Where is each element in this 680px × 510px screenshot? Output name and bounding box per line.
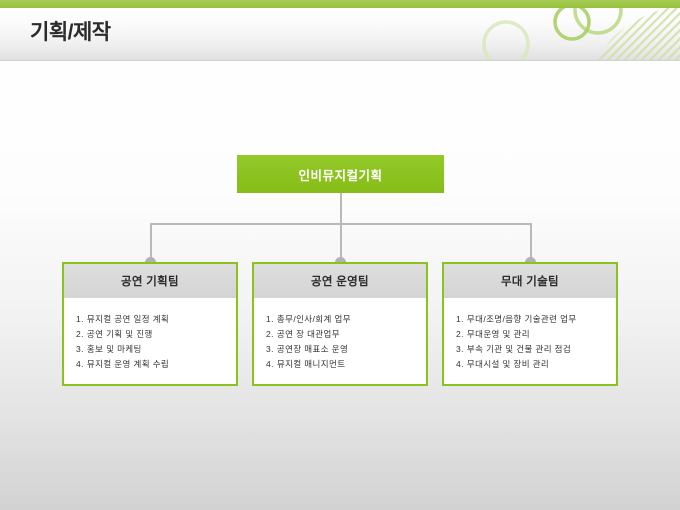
list-item-number: 1. xyxy=(456,314,464,324)
list-item-number: 3. xyxy=(76,344,84,354)
list-item-text: 홍보 및 마케팅 xyxy=(87,344,142,354)
list-item: 4.무대시설 및 장비 관리 xyxy=(456,357,616,372)
org-chart: 인비뮤지컬기획 공연 기획팀 1.뮤지컬 공연 일정 계획 2.공연 기획 및 … xyxy=(0,0,680,510)
list-item: 4.뮤지컬 운영 계획 수립 xyxy=(76,357,236,372)
list-item-text: 무대/조명/음향 기술관련 업무 xyxy=(467,314,577,324)
org-root-node[interactable]: 인비뮤지컬기획 xyxy=(237,155,444,193)
list-item-text: 뮤지컬 공연 일정 계획 xyxy=(87,314,169,324)
list-item-number: 4. xyxy=(456,359,464,369)
list-item: 2.무대운영 및 관리 xyxy=(456,327,616,342)
list-item: 2.공연 기획 및 진행 xyxy=(76,327,236,342)
list-item-text: 무대시설 및 장비 관리 xyxy=(467,359,549,369)
list-item: 1.무대/조명/음향 기술관련 업무 xyxy=(456,312,616,327)
list-item: 2.공연 장 대관업무 xyxy=(266,327,426,342)
list-item-text: 부속 기관 및 건물 관리 점검 xyxy=(467,344,571,354)
team-body-operations: 1.총무/인사/회계 업무 2.공연 장 대관업무 3.공연장 매표소 운영 4… xyxy=(254,298,426,372)
team-box-planning[interactable]: 공연 기획팀 1.뮤지컬 공연 일정 계획 2.공연 기획 및 진행 3.홍보 … xyxy=(62,262,238,386)
list-item: 3.공연장 매표소 운영 xyxy=(266,342,426,357)
list-item: 4.뮤지컬 매니지먼트 xyxy=(266,357,426,372)
team-body-stage-tech: 1.무대/조명/음향 기술관련 업무 2.무대운영 및 관리 3.부속 기관 및… xyxy=(444,298,616,372)
team-title-stage-tech: 무대 기술팀 xyxy=(501,273,559,289)
list-item-number: 4. xyxy=(76,359,84,369)
team-box-stage-tech[interactable]: 무대 기술팀 1.무대/조명/음향 기술관련 업무 2.무대운영 및 관리 3.… xyxy=(442,262,618,386)
list-item-number: 3. xyxy=(456,344,464,354)
team-header-stage-tech: 무대 기술팀 xyxy=(444,264,616,298)
list-item-text: 공연 장 대관업무 xyxy=(277,329,340,339)
list-item-number: 2. xyxy=(456,329,464,339)
team-box-operations[interactable]: 공연 운영팀 1.총무/인사/회계 업무 2.공연 장 대관업무 3.공연장 매… xyxy=(252,262,428,386)
list-item-number: 1. xyxy=(76,314,84,324)
list-item-number: 1. xyxy=(266,314,274,324)
list-item: 3.부속 기관 및 건물 관리 점검 xyxy=(456,342,616,357)
list-item-text: 뮤지컬 운영 계획 수립 xyxy=(87,359,169,369)
list-item-number: 2. xyxy=(76,329,84,339)
team-header-planning: 공연 기획팀 xyxy=(64,264,236,298)
list-item: 1.뮤지컬 공연 일정 계획 xyxy=(76,312,236,327)
team-title-operations: 공연 운영팀 xyxy=(311,273,369,289)
list-item: 1.총무/인사/회계 업무 xyxy=(266,312,426,327)
list-item-text: 공연장 매표소 운영 xyxy=(277,344,348,354)
slide-canvas: 기획/제작 인비뮤지컬기획 공연 기획팀 1.뮤지컬 공연 일정 계획 xyxy=(0,0,680,510)
list-item: 3.홍보 및 마케팅 xyxy=(76,342,236,357)
org-root-label: 인비뮤지컬기획 xyxy=(298,165,382,184)
list-item-text: 뮤지컬 매니지먼트 xyxy=(277,359,346,369)
list-item-text: 무대운영 및 관리 xyxy=(467,329,530,339)
connector-horizontal xyxy=(150,223,532,225)
list-item-text: 총무/인사/회계 업무 xyxy=(277,314,351,324)
list-item-text: 공연 기획 및 진행 xyxy=(87,329,153,339)
team-header-operations: 공연 운영팀 xyxy=(254,264,426,298)
list-item-number: 3. xyxy=(266,344,274,354)
team-title-planning: 공연 기획팀 xyxy=(121,273,179,289)
list-item-number: 4. xyxy=(266,359,274,369)
team-body-planning: 1.뮤지컬 공연 일정 계획 2.공연 기획 및 진행 3.홍보 및 마케팅 4… xyxy=(64,298,236,372)
list-item-number: 2. xyxy=(266,329,274,339)
